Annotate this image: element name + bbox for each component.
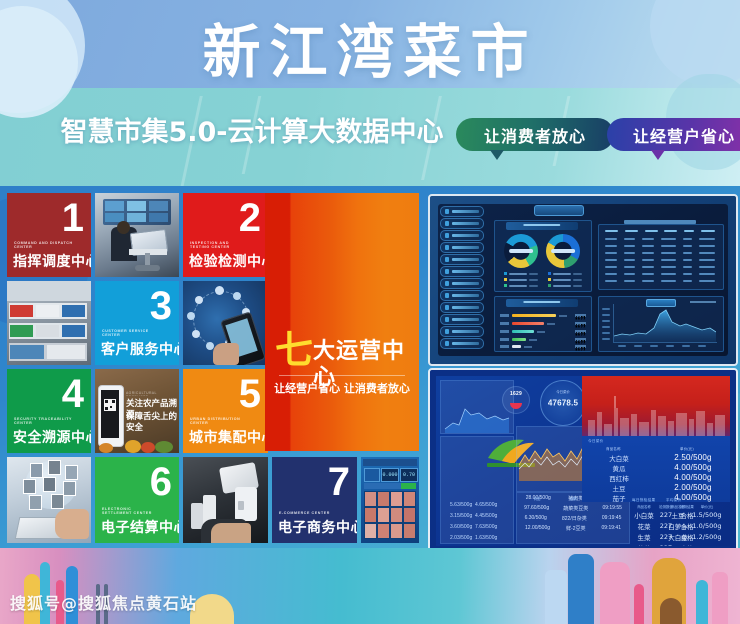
- table-row: [602, 264, 718, 270]
- sidebar-item-1[interactable]: [440, 218, 484, 229]
- tile-number: 6: [150, 461, 172, 503]
- center-tile-1[interactable]: 1 COMMAND AND DISPATCH CENTER 指挥调度中心: [7, 193, 91, 277]
- table-header: 商品名称 单价(元): [666, 504, 730, 509]
- tile-cn-label: 安全溯源中心: [13, 429, 91, 447]
- trend-chart-legend-line: [690, 301, 716, 303]
- trend-chart-legend[interactable]: [646, 299, 676, 307]
- sidebar-icon: [445, 269, 450, 274]
- dashboard-screen: [438, 204, 728, 356]
- photo-market-aisle: [7, 281, 91, 365]
- tile-cn-label: 客户服务中心: [101, 341, 179, 359]
- photo-laptop-network: [7, 457, 91, 543]
- tile-cn-label: 电子商务中心: [278, 519, 357, 537]
- center-tile-2[interactable]: 2 INSPECTION AND TESTING CENTER 检验检测中心: [183, 193, 268, 277]
- donut-chart-left: [504, 234, 538, 268]
- center-tile-6[interactable]: 6 ELECTRONIC SETTLEMENT CENTER 电子结算中心: [95, 457, 179, 543]
- tile-number: 4: [62, 373, 84, 415]
- sidebar-icon: [445, 305, 450, 310]
- badge-label: 让消费者放心: [484, 123, 586, 147]
- tile-en-label: E-COMMERCE CENTER: [279, 511, 339, 516]
- price-col-name: 商品名称: [606, 446, 621, 451]
- trade-log-row: 97.60/500g蔬菜类豆类09:19:55: [517, 505, 629, 515]
- sidebar-item-9[interactable]: [440, 314, 484, 325]
- sidebar-icon: [445, 341, 450, 346]
- page-subtitle: 智慧市集5.0-云计算大数据中心: [52, 114, 452, 152]
- table-row: 白萝卜 1.0/500g: [666, 520, 730, 531]
- tile-number: 2: [239, 197, 261, 239]
- sidebar-item-0[interactable]: [440, 206, 484, 217]
- tile-cn-label: 电子结算中心: [101, 519, 179, 537]
- banner-divider: [279, 375, 405, 376]
- sidebar-item-2[interactable]: [440, 230, 484, 241]
- skyline-graphic: [582, 376, 730, 438]
- donut-label: [509, 249, 533, 253]
- sidebar-icon: [445, 221, 450, 226]
- sidebar-icon: [445, 281, 450, 286]
- tile-number: 7: [328, 461, 350, 503]
- table-row: 菠菜 227 合格: [632, 542, 698, 546]
- page-title: 新江湾菜市: [0, 16, 740, 88]
- table-row: [602, 278, 718, 284]
- table-row: [602, 236, 718, 242]
- table-average-price: 平均菜价 商品名称 单价(元) 土豆 1.5/500g 白萝卜 1.0/500g…: [666, 498, 730, 542]
- table-row: [602, 250, 718, 256]
- trend-chart-area: [614, 308, 716, 342]
- card-trade-table-title: [624, 220, 696, 224]
- photo-pos-terminal: [183, 457, 268, 543]
- donut-label: [551, 249, 575, 253]
- price-panel-title: 今日菜价: [588, 439, 604, 444]
- badge-label: 让经营户省心: [633, 123, 735, 147]
- kpi-left-smile: [510, 403, 522, 409]
- tile-en-label: INSPECTION AND TESTING CENTER: [190, 241, 250, 250]
- badge-merchant-assurance: 让经营户省心: [607, 118, 740, 151]
- poster-header: 新江湾菜市 智慧市集5.0-云计算大数据中心 让消费者放心 让经营户省心: [0, 0, 740, 186]
- tile-number: 3: [150, 285, 172, 327]
- kpi-left: 1629: [502, 386, 530, 414]
- left-price-list: 5.63/500g 4.65/500g 3.15/500g 4.45/500g …: [450, 500, 516, 544]
- card-market-trade-title: [506, 222, 578, 230]
- donut-chart-right: [546, 234, 580, 268]
- sidebar-icon: [445, 293, 450, 298]
- sidebar-icon: [445, 209, 450, 214]
- banner-subtitle: 让经营户省心 让消费者放心: [265, 381, 419, 397]
- badge-consumer-assurance: 让消费者放心: [456, 118, 614, 151]
- poster-line-2: 保障舌尖上的安全: [126, 412, 179, 434]
- kpi-center-caption: 今日菜价: [541, 389, 585, 394]
- dashboard-market-prices[interactable]: 1629 今日菜价 47678.5 33.36: [428, 368, 738, 554]
- sidebar-icon: [445, 317, 450, 322]
- watermark: 搜狐号@搜狐焦点黄石站: [10, 594, 197, 614]
- poster-root: 新江湾菜市 智慧市集5.0-云计算大数据中心 让消费者放心 让经营户省心 1 C…: [0, 0, 740, 624]
- center-tile-3[interactable]: 3 CUSTOMER SERVICE CENTER 客户服务中心: [95, 281, 179, 365]
- sidebar-icon: [445, 245, 450, 250]
- sidebar-item-8[interactable]: [440, 302, 484, 313]
- photo-ecommerce-screen: 0.000 0.70: [361, 457, 419, 543]
- card-trade-tops-title: [506, 299, 578, 307]
- dashboard-tab-overview[interactable]: [534, 205, 584, 216]
- tile-cn-label: 城市集配中心: [189, 429, 268, 447]
- tile-en-label: SECURITY TRACEABILITY CENTER: [14, 417, 74, 426]
- sidebar-item-6[interactable]: [440, 278, 484, 289]
- sidebar-item-10[interactable]: [440, 326, 484, 337]
- sidebar-icon: [445, 233, 450, 238]
- center-tile-7[interactable]: 7 E-COMMERCE CENTER 电子商务中心: [272, 457, 357, 543]
- photo-traceability-poster: AGRICULTURAL PRODUCTS 关注农产品溯源 保障舌尖上的安全: [95, 369, 179, 453]
- price-col-value: 单价(元): [680, 446, 694, 451]
- photo-mobile-network: [183, 281, 268, 365]
- sidebar-item-3[interactable]: [440, 242, 484, 253]
- table-row: [602, 257, 718, 263]
- table-title: 平均菜价: [666, 498, 730, 503]
- tile-en-label: COMMAND AND DISPATCH CENTER: [14, 241, 74, 250]
- trade-log-row: 6.30/500g822/日杂类09:19:45: [517, 515, 629, 525]
- seven-centers-banner: 七 大运营中心 让经营户省心 让消费者放心: [265, 193, 419, 451]
- sidebar-icon: [445, 257, 450, 262]
- dashboard-operations-overview[interactable]: [428, 194, 738, 366]
- trade-log-row: 12.00/500g鲜-2豆类09:19:41: [517, 525, 629, 535]
- operation-centers-grid: 1 COMMAND AND DISPATCH CENTER 指挥调度中心 2 I…: [7, 193, 419, 551]
- table-row: 土豆 1.5/500g: [666, 509, 730, 520]
- sidebar-icon: [445, 329, 450, 334]
- table-row: [602, 243, 718, 249]
- tile-number: 1: [62, 197, 84, 239]
- tile-en-label: ELECTRONIC SETTLEMENT CENTER: [102, 507, 162, 516]
- tile-en-label: URBAN DISTRIBUTION CENTER: [190, 417, 250, 426]
- photo-command-room: [95, 193, 179, 277]
- sidebar-item-5[interactable]: [440, 266, 484, 277]
- kpi-center-value: 47678.5: [541, 399, 585, 408]
- dashboard-screen: 1629 今日菜价 47678.5 33.36: [436, 376, 730, 546]
- banner-big-char: 七: [275, 331, 313, 369]
- table-row: [602, 271, 718, 277]
- center-tile-5[interactable]: 5 URBAN DISTRIBUTION CENTER 城市集配中心: [183, 369, 268, 453]
- tile-cn-label: 指挥调度中心: [13, 253, 91, 271]
- tile-cn-label: 检验检测中心: [189, 253, 268, 271]
- sidebar-item-7[interactable]: [440, 290, 484, 301]
- table-row: 大白菜 1.2/500g: [666, 531, 730, 542]
- tile-en-label: CUSTOMER SERVICE CENTER: [102, 329, 162, 338]
- dashboard-sidebar[interactable]: [438, 206, 484, 356]
- tile-number: 5: [239, 373, 261, 415]
- sidebar-item-4[interactable]: [440, 254, 484, 265]
- panel-today-prices: 今日菜价 商品名称 单价(元) 大白菜 2.50/500g 黄瓜 4.00/50…: [582, 436, 730, 502]
- center-tile-4[interactable]: 4 SECURITY TRACEABILITY CENTER 安全溯源中心: [7, 369, 91, 453]
- kpi-center: 今日菜价 47678.5: [540, 380, 586, 426]
- sidebar-item-11[interactable]: [440, 338, 484, 349]
